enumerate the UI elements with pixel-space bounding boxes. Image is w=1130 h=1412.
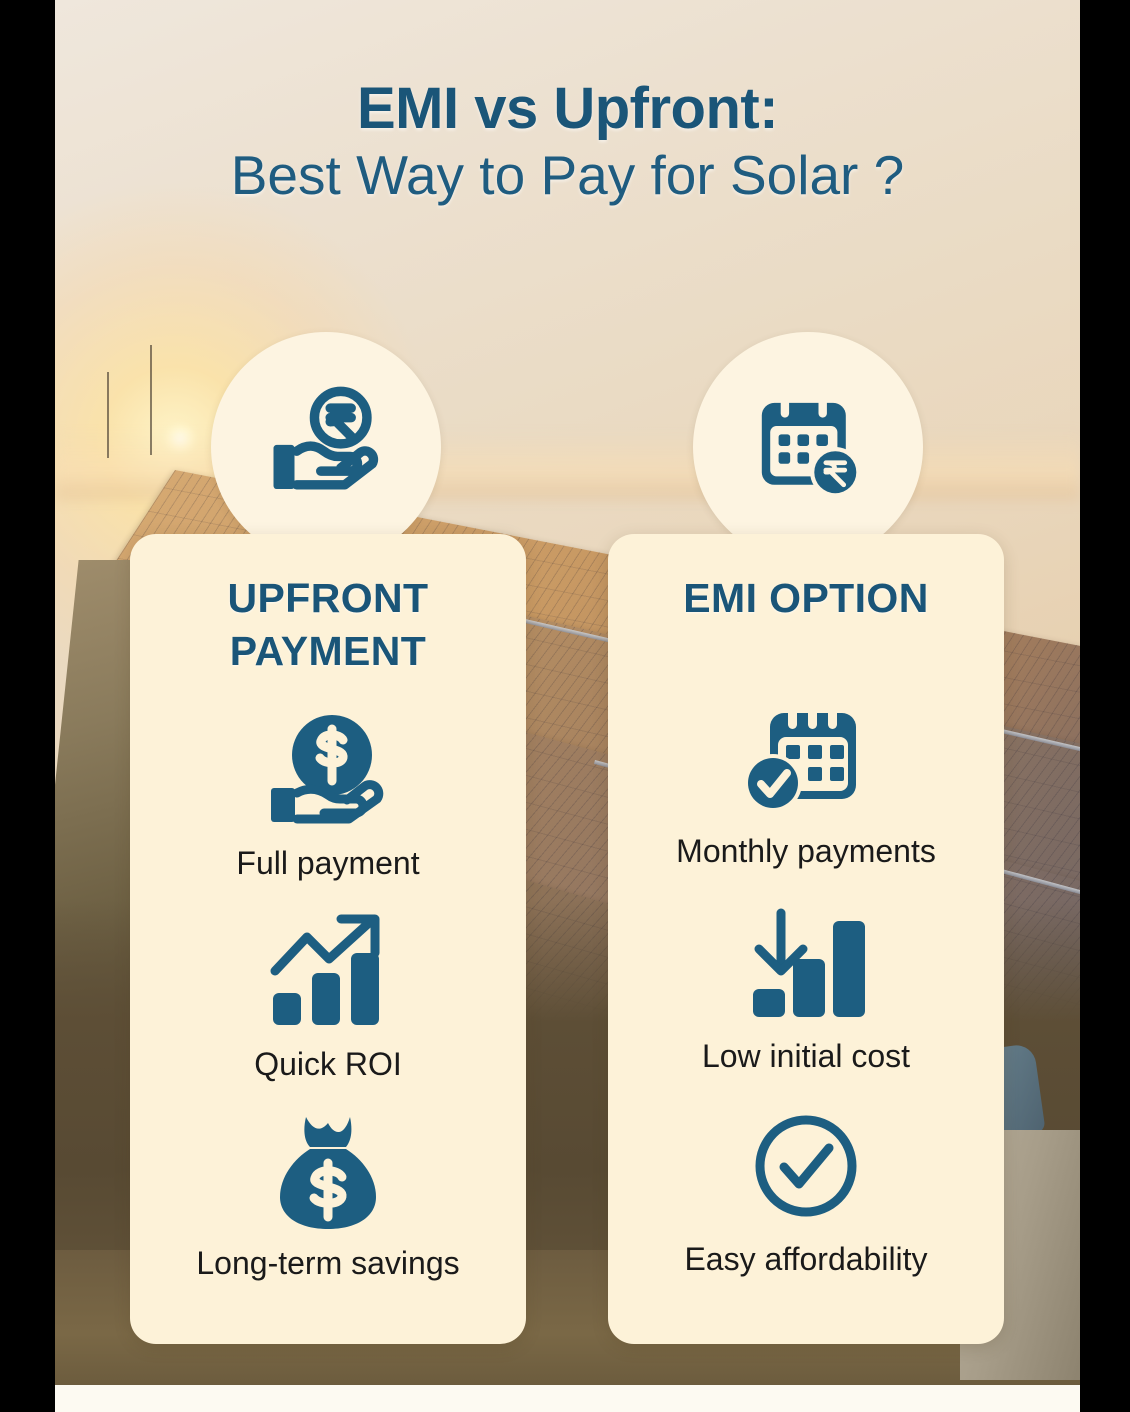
title-line-1: EMI vs Upfront: — [55, 78, 1080, 141]
hand-holding-rupee-coin-icon — [263, 384, 389, 510]
feature-list-upfront: Full payment Quick ROI — [130, 709, 526, 1344]
card-upfront-payment: UPFRONTPAYMENT Full payment — [130, 534, 526, 1344]
feature-easy-affordability: Easy affordability — [608, 1075, 1004, 1278]
card-emi-option: EMI OPTION — [608, 534, 1004, 1344]
feature-label: Low initial cost — [702, 1038, 910, 1075]
feature-label: Quick ROI — [254, 1046, 402, 1083]
money-bag-icon — [274, 1107, 382, 1237]
growth-chart-up-arrow-icon — [267, 906, 389, 1036]
card-title-upfront: UPFRONTPAYMENT — [228, 572, 429, 679]
page-title: EMI vs Upfront: Best Way to Pay for Sola… — [55, 78, 1080, 209]
feature-label: Easy affordability — [684, 1241, 927, 1278]
card-title-emi: EMI OPTION — [683, 572, 928, 625]
upfront-badge-circle — [211, 332, 441, 562]
calendar-rupee-icon — [745, 384, 871, 510]
utility-pole — [150, 345, 152, 455]
feature-monthly-payments: Monthly payments — [608, 697, 1004, 870]
infographic-poster: EMI vs Upfront: Best Way to Pay for Sola… — [0, 0, 1130, 1412]
utility-pole — [107, 372, 109, 458]
feature-long-term-savings: Long-term savings — [130, 1083, 526, 1282]
emi-badge-circle — [693, 332, 923, 562]
title-line-2: Best Way to Pay for Solar ? — [55, 141, 1080, 210]
calendar-check-icon — [744, 697, 868, 817]
feature-quick-roi: Quick ROI — [130, 882, 526, 1083]
feature-label: Long-term savings — [196, 1245, 459, 1282]
feature-low-initial-cost: Low initial cost — [608, 870, 1004, 1075]
check-circle-icon — [751, 1101, 861, 1231]
bars-down-arrow-icon — [747, 898, 865, 1028]
feature-label: Monthly payments — [676, 833, 936, 870]
feature-full-payment: Full payment — [130, 709, 526, 882]
feature-list-emi: Monthly payments Low initial cost — [608, 697, 1004, 1344]
bottom-strip — [55, 1385, 1080, 1412]
hand-holding-dollar-coin-icon — [269, 709, 387, 829]
feature-label: Full payment — [236, 845, 419, 882]
